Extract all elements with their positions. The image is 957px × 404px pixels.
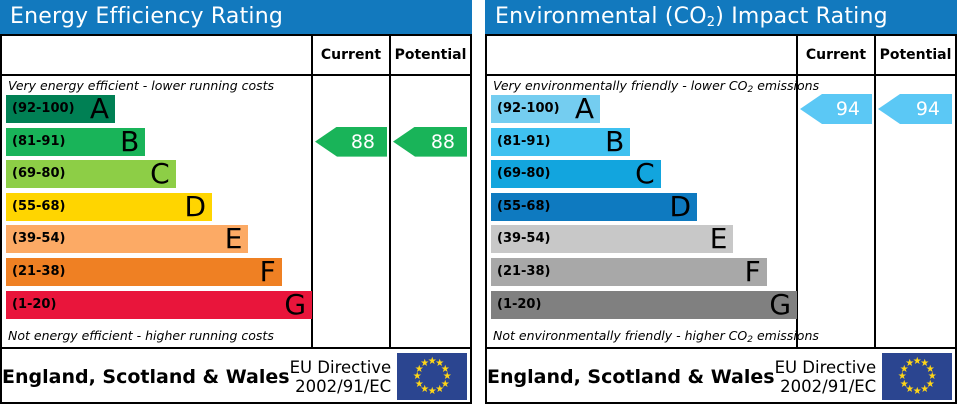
band-letter-label: C bbox=[150, 160, 170, 188]
eu-flag-icon: ★★★★★★★★★★★★ bbox=[882, 353, 952, 400]
environmental-co2-impact-rating-chart: Environmental (CO2) Impact Rating Curren… bbox=[485, 0, 957, 404]
band-letter-label: B bbox=[120, 128, 139, 156]
caption-top-energy: Very energy efficient - lower running co… bbox=[8, 78, 308, 93]
band-range-label: (69-80) bbox=[497, 160, 550, 188]
column-header-potential: Potential bbox=[391, 36, 470, 74]
directive-line-2: 2002/91/EC bbox=[290, 377, 392, 396]
band-f: (21-38)F bbox=[6, 258, 282, 286]
band-letter-label: G bbox=[284, 291, 306, 319]
band-letter-label: E bbox=[710, 225, 728, 253]
band-range-label: (39-54) bbox=[12, 225, 65, 253]
potential-rating-arrow-co2: 94 bbox=[878, 94, 952, 124]
column-header-current: Current bbox=[313, 36, 389, 74]
chart-footer-energy: England, Scotland & Wales EU Directive 2… bbox=[2, 349, 470, 404]
band-range-label: (21-38) bbox=[497, 258, 550, 286]
chart-title-energy: Energy Efficiency Rating bbox=[0, 0, 472, 34]
current-rating-arrow-energy: 88 bbox=[315, 127, 387, 157]
band-f: (21-38)F bbox=[491, 258, 767, 286]
header-row-divider bbox=[2, 74, 470, 76]
band-b: (81-91)B bbox=[6, 128, 145, 156]
band-letter-label: D bbox=[184, 193, 206, 221]
band-letter-label: G bbox=[769, 291, 791, 319]
footer-directive-co2: EU Directive 2002/91/EC bbox=[775, 358, 883, 396]
band-range-label: (81-91) bbox=[497, 128, 550, 156]
footer-country-co2: England, Scotland & Wales bbox=[487, 366, 775, 388]
band-letter-label: D bbox=[669, 193, 691, 221]
band-letter-label: A bbox=[575, 95, 594, 123]
caption-bottom-energy: Not energy efficient - higher running co… bbox=[8, 328, 308, 343]
band-c: (69-80)C bbox=[491, 160, 661, 188]
band-range-label: (55-68) bbox=[497, 193, 550, 221]
band-range-label: (92-100) bbox=[497, 95, 560, 123]
potential-rating-arrow-energy: 88 bbox=[393, 127, 467, 157]
band-letter-label: F bbox=[745, 258, 761, 286]
directive-line-2: 2002/91/EC bbox=[775, 377, 877, 396]
caption-bottom-co2: Not environmentally friendly - higher CO… bbox=[493, 328, 793, 343]
potential-column-divider bbox=[874, 36, 876, 347]
band-c: (69-80)C bbox=[6, 160, 176, 188]
directive-line-1: EU Directive bbox=[290, 358, 392, 377]
band-e: (39-54)E bbox=[491, 225, 733, 253]
band-range-label: (81-91) bbox=[12, 128, 65, 156]
band-a: (92-100)A bbox=[6, 95, 115, 123]
band-range-label: (21-38) bbox=[12, 258, 65, 286]
directive-line-1: EU Directive bbox=[775, 358, 877, 377]
chart-body-co2: Current Potential Very environmentally f… bbox=[485, 34, 957, 404]
current-rating-arrow-co2: 94 bbox=[800, 94, 872, 124]
column-header-potential: Potential bbox=[876, 36, 955, 74]
column-header-current: Current bbox=[798, 36, 874, 74]
eu-flag-icon: ★★★★★★★★★★★★ bbox=[397, 353, 467, 400]
band-letter-label: B bbox=[605, 128, 624, 156]
band-d: (55-68)D bbox=[491, 193, 697, 221]
header-row-divider bbox=[487, 74, 955, 76]
chart-body-energy: Current Potential Very energy efficient … bbox=[0, 34, 472, 404]
band-b: (81-91)B bbox=[491, 128, 630, 156]
band-letter-label: F bbox=[260, 258, 276, 286]
band-d: (55-68)D bbox=[6, 193, 212, 221]
band-a: (92-100)A bbox=[491, 95, 600, 123]
band-letter-label: E bbox=[225, 225, 243, 253]
band-range-label: (92-100) bbox=[12, 95, 75, 123]
band-e: (39-54)E bbox=[6, 225, 248, 253]
band-g: (1-20)G bbox=[6, 291, 312, 319]
eu-star-icon: ★ bbox=[420, 359, 429, 368]
band-bars-co2: (92-100)A(81-91)B(69-80)C(55-68)D(39-54)… bbox=[491, 95, 794, 323]
energy-efficiency-rating-chart: Energy Efficiency Rating Current Potenti… bbox=[0, 0, 472, 404]
band-g: (1-20)G bbox=[491, 291, 797, 319]
band-range-label: (1-20) bbox=[497, 291, 541, 319]
band-range-label: (55-68) bbox=[12, 193, 65, 221]
band-letter-label: A bbox=[90, 95, 109, 123]
chart-footer-co2: England, Scotland & Wales EU Directive 2… bbox=[487, 349, 955, 404]
potential-column-divider bbox=[389, 36, 391, 347]
band-range-label: (69-80) bbox=[12, 160, 65, 188]
eu-star-icon: ★ bbox=[905, 359, 914, 368]
band-range-label: (1-20) bbox=[12, 291, 56, 319]
footer-country-energy: England, Scotland & Wales bbox=[2, 366, 290, 388]
epc-charts-page: Energy Efficiency Rating Current Potenti… bbox=[0, 0, 957, 404]
band-bars-energy: (92-100)A(81-91)B(69-80)C(55-68)D(39-54)… bbox=[6, 95, 309, 323]
chart-title-co2: Environmental (CO2) Impact Rating bbox=[485, 0, 957, 34]
band-range-label: (39-54) bbox=[497, 225, 550, 253]
caption-top-co2: Very environmentally friendly - lower CO… bbox=[493, 78, 793, 93]
footer-directive-energy: EU Directive 2002/91/EC bbox=[290, 358, 398, 396]
band-letter-label: C bbox=[635, 160, 655, 188]
